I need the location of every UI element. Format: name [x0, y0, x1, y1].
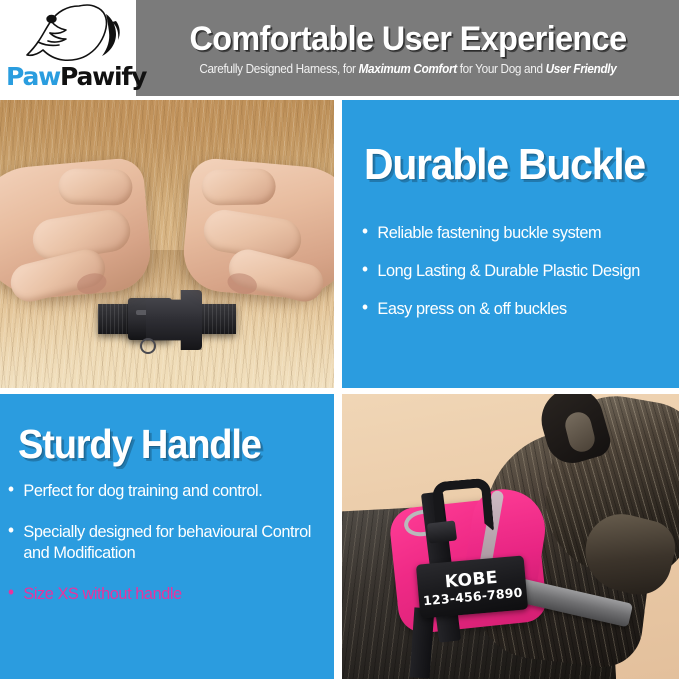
bullet-item: Perfect for dog training and control. [8, 480, 317, 501]
sturdy-handle-panel: Sturdy Handle Perfect for dog training a… [0, 394, 334, 679]
brand-logo: PawPawify [0, 0, 136, 96]
header-subtitle: Carefully Designed Harness, for Maximum … [199, 62, 616, 77]
right-hand [181, 157, 334, 303]
logo-wordmark: PawPawify [6, 62, 132, 91]
harness-adjuster-buckle [427, 520, 457, 543]
header-banner: PawPawify Comfortable User Experience Ca… [0, 0, 679, 96]
bullet-item: Long Lasting & Durable Plastic Design [362, 260, 650, 281]
buckle-photo [0, 100, 334, 388]
finger [201, 168, 276, 205]
header-text-block: Comfortable User Experience Carefully De… [136, 0, 679, 96]
sturdy-handle-title: Sturdy Handle [18, 420, 261, 468]
harness-name-label: KOBE 123-456-7890 [416, 555, 528, 618]
left-hand [0, 157, 153, 303]
bullet-item-size-note: Size XS without handle [8, 583, 317, 604]
logo-word-paw: Paw [6, 62, 60, 91]
harness-label-phone-text: 123-456-7890 [422, 584, 523, 608]
product-infographic: PawPawify Comfortable User Experience Ca… [0, 0, 679, 679]
finger [58, 168, 133, 205]
dog-nose-icon [46, 15, 56, 23]
bullet-item: Easy press on & off buckles [362, 298, 650, 319]
subtitle-part-2: for Your Dog and [456, 62, 545, 76]
header-title: Comfortable User Experience [189, 19, 626, 59]
sturdy-handle-bullet-list: Perfect for dog training and control. Sp… [8, 480, 330, 624]
subtitle-emphasis-2: User Friendly [545, 62, 616, 76]
buckle-release-clip [140, 338, 156, 354]
subtitle-part-1: Carefully Designed Harness, for [199, 62, 358, 76]
bullet-item: Specially designed for behavioural Contr… [8, 521, 317, 563]
dog-head-icon [24, 2, 128, 66]
durable-buckle-bullet-list: Reliable fastening buckle system Long La… [362, 222, 662, 336]
durable-buckle-panel: Durable Buckle Reliable fastening buckle… [342, 100, 679, 388]
subtitle-emphasis-1: Maximum Comfort [358, 62, 456, 76]
harness-photo-panel: KOBE 123-456-7890 [342, 394, 679, 679]
durable-buckle-title: Durable Buckle [364, 140, 645, 190]
bullet-item: Reliable fastening buckle system [362, 222, 650, 243]
buckle-photo-panel [0, 100, 334, 388]
logo-word-pawify: Pawify [60, 62, 146, 91]
harness-photo: KOBE 123-456-7890 [342, 394, 679, 679]
